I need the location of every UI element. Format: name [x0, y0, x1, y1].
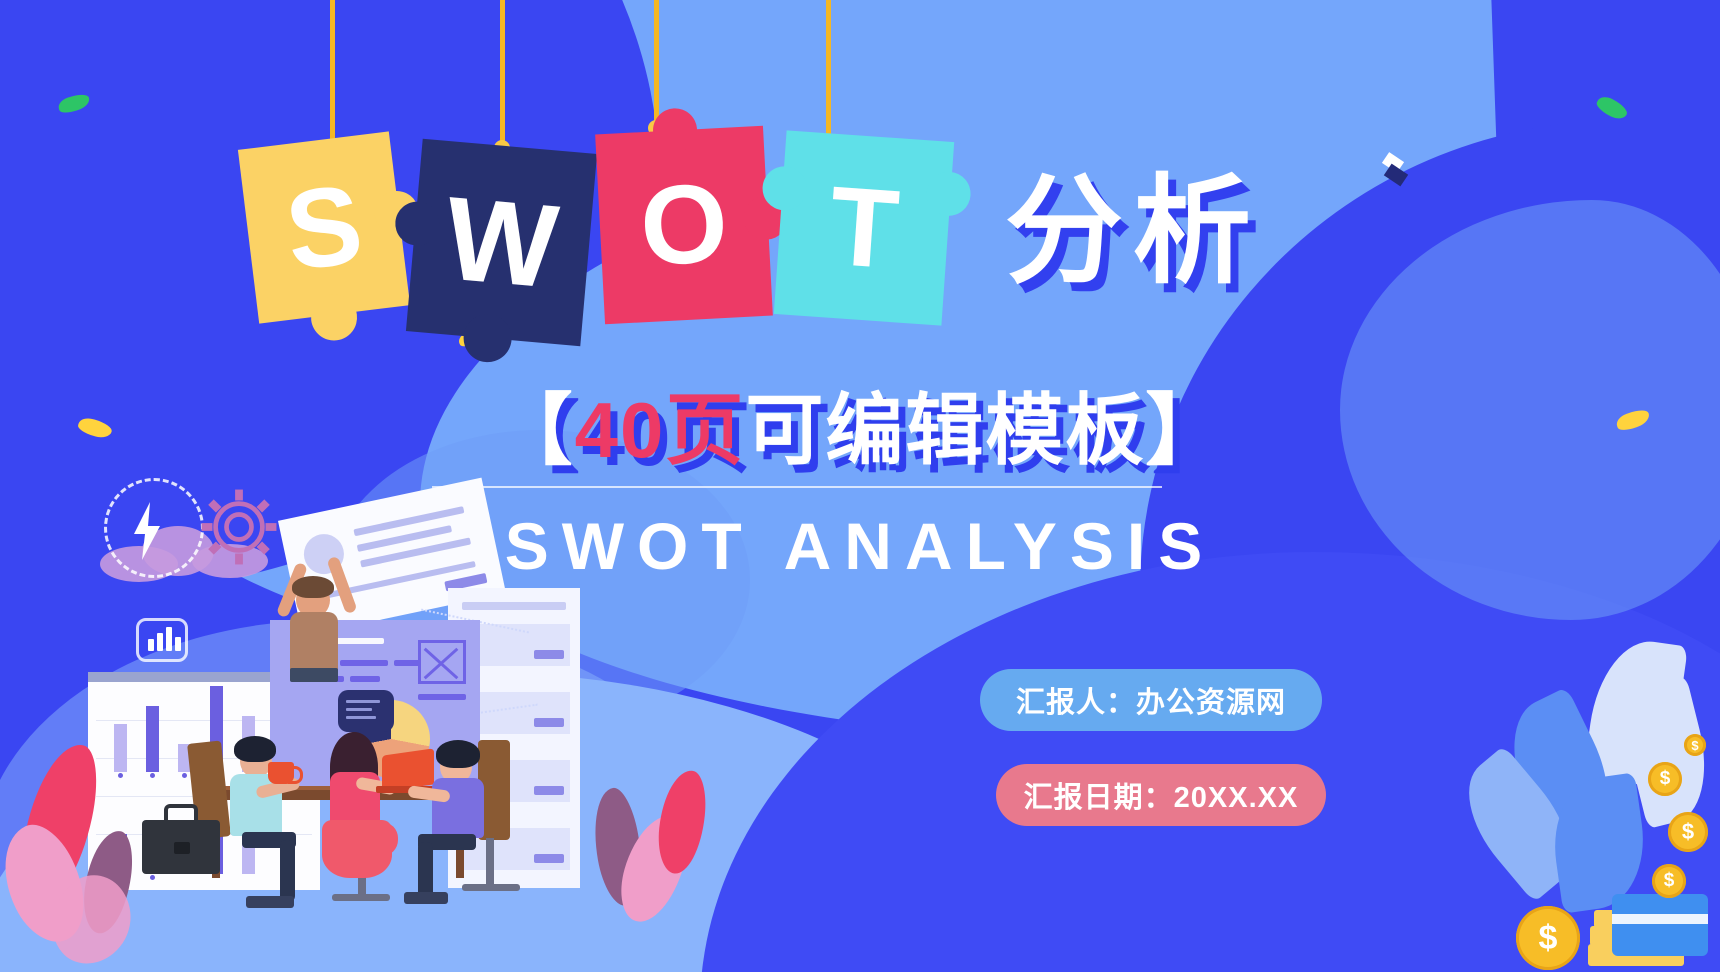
puzzle-letter-s: S	[280, 167, 368, 287]
presenter-badge-label: 汇报人：办公资源网	[1016, 679, 1286, 721]
coin-glyph: $	[1691, 738, 1698, 753]
puzzle-piece-w: W	[406, 139, 597, 347]
puzzle-letter-w: W	[441, 179, 562, 306]
date-badge[interactable]: 汇报日期：20XX.XX	[996, 764, 1326, 826]
puzzle-letter-t: T	[826, 170, 902, 287]
coin-glyph: $	[1664, 870, 1675, 892]
page-title-chinese: 分析	[1005, 135, 1261, 306]
dollar-coin-mid-3: $	[1652, 864, 1686, 898]
hanging-string-2	[500, 0, 505, 148]
dollar-coin-mid-2: $	[1668, 812, 1708, 852]
puzzle-piece-o: O	[595, 126, 773, 325]
lightning-bolt-icon	[130, 500, 164, 562]
dollar-coin-mid-1: $	[1648, 762, 1682, 796]
speech-bubble-icon	[338, 690, 394, 732]
presenter-badge[interactable]: 汇报人：办公资源网	[980, 669, 1322, 731]
subtitle-line: 【40页可编辑模板】	[0, 368, 1720, 480]
coin-glyph: $	[1682, 819, 1694, 845]
gear-icon	[200, 488, 278, 566]
briefcase-icon	[142, 820, 220, 874]
dollar-coin-small: $	[1684, 734, 1706, 756]
puzzle-piece-s: S	[238, 131, 410, 323]
credit-card-icon	[1612, 894, 1708, 956]
plant-and-money-illustration: $ $ $ $ $	[1408, 612, 1708, 972]
slide-canvas: S W O T 分析 【40页可编辑模板】 SWOT ANALYSIS 汇报人：…	[0, 0, 1720, 972]
dollar-coin-large: $	[1516, 906, 1580, 970]
divider-line	[432, 486, 1162, 488]
coin-glyph: $	[1660, 768, 1671, 790]
subtitle-bracket-open: 【	[495, 386, 575, 474]
puzzle-piece-t: T	[774, 130, 954, 325]
coffee-cup-icon	[268, 762, 294, 784]
subtitle-rest: 可编辑模板】	[745, 386, 1225, 474]
date-badge-label: 汇报日期：20XX.XX	[1024, 774, 1299, 816]
subtitle-page-count: 40页	[575, 386, 746, 474]
hanging-string-3	[654, 0, 659, 128]
coin-glyph: $	[1539, 919, 1558, 958]
puzzle-letter-o: O	[638, 167, 731, 283]
bar-chart-icon	[136, 618, 188, 662]
